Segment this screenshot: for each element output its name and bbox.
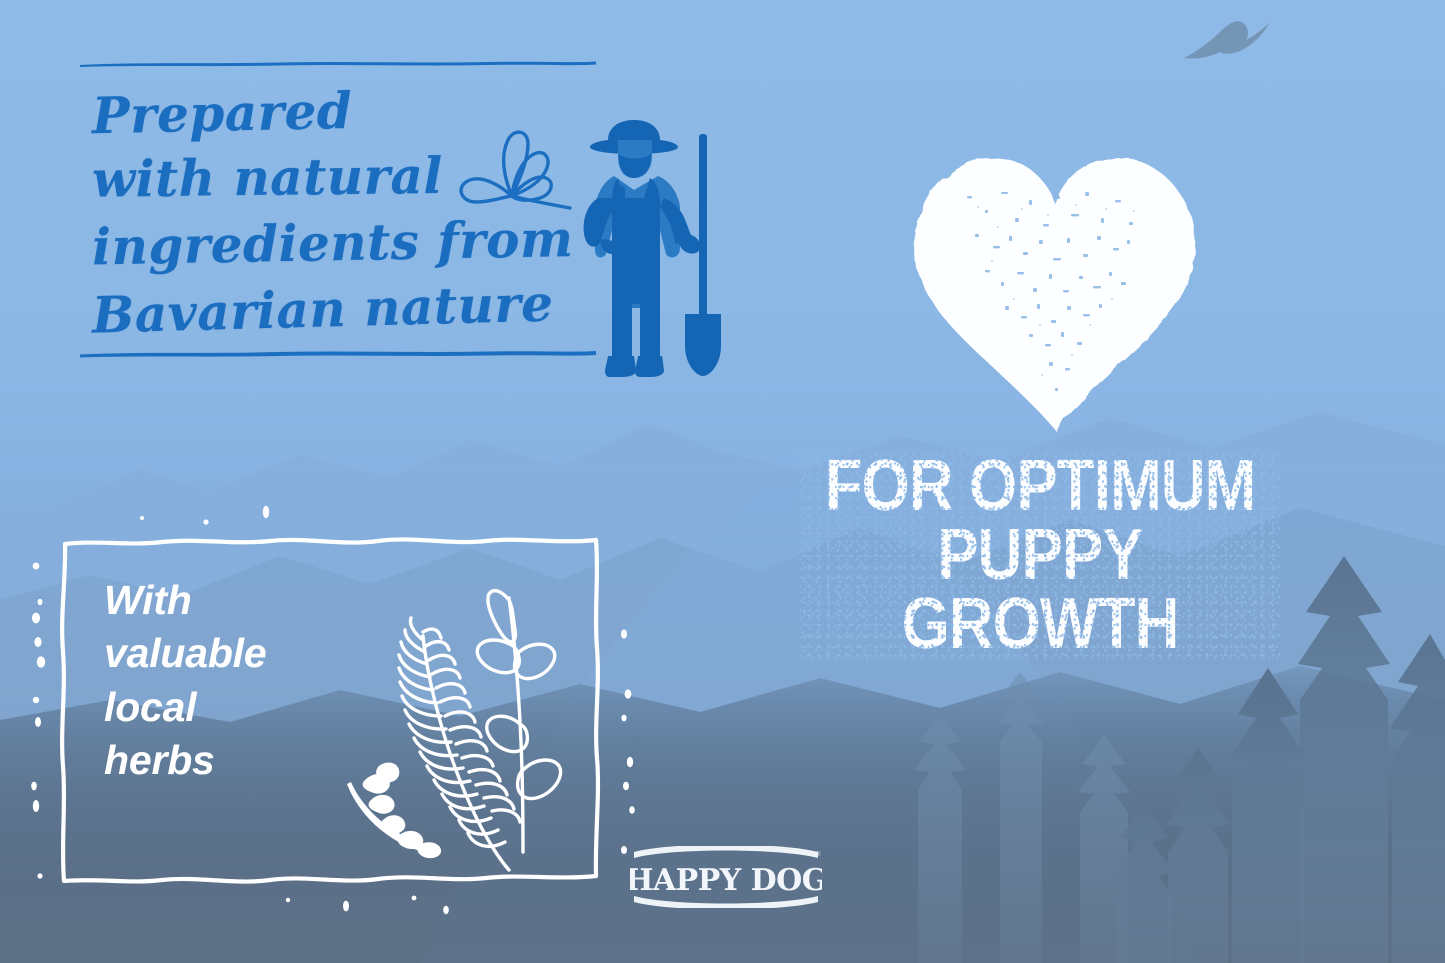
claim-growth-text: FOR OPTIMUM PUPPY GROWTH: [799, 452, 1281, 659]
brush-rule-bottom: [78, 348, 598, 358]
herb-illustrations: [343, 584, 593, 874]
small-sprig-icon: [347, 763, 441, 859]
claim-herbs-line: valuable: [104, 627, 266, 680]
claim-herbs-line: local: [104, 681, 266, 734]
fern-frond-icon: [399, 618, 520, 870]
logo-wordmark: HAPPY DOG: [630, 863, 822, 898]
claim-herbs: With valuable local herbs: [58, 532, 603, 887]
farmer-with-shovel-icon: [562, 98, 742, 383]
claim-growth-line: GROWTH: [799, 590, 1281, 659]
claim-natural-line: Bavarian nature: [91, 269, 599, 348]
claim-herbs-line: With: [104, 574, 266, 627]
seagull-icon: [1182, 10, 1274, 68]
logo-swoosh-top: [634, 846, 818, 858]
packaging-panel: Prepared with natural ingredients from B…: [0, 0, 1445, 963]
leafy-stem-icon: [477, 591, 560, 852]
brush-rule-top: [78, 58, 598, 68]
claim-growth-line: FOR OPTIMUM: [799, 452, 1281, 521]
claim-herbs-line: herbs: [104, 734, 266, 787]
logo-trademark-icon: ®: [816, 851, 821, 858]
claim-herbs-text: With valuable local herbs: [104, 574, 266, 787]
claim-growth-line: PUPPY: [799, 521, 1281, 590]
heart-icon: [905, 148, 1205, 438]
happy-dog-logo[interactable]: HAPPY DOG ®: [630, 846, 822, 908]
